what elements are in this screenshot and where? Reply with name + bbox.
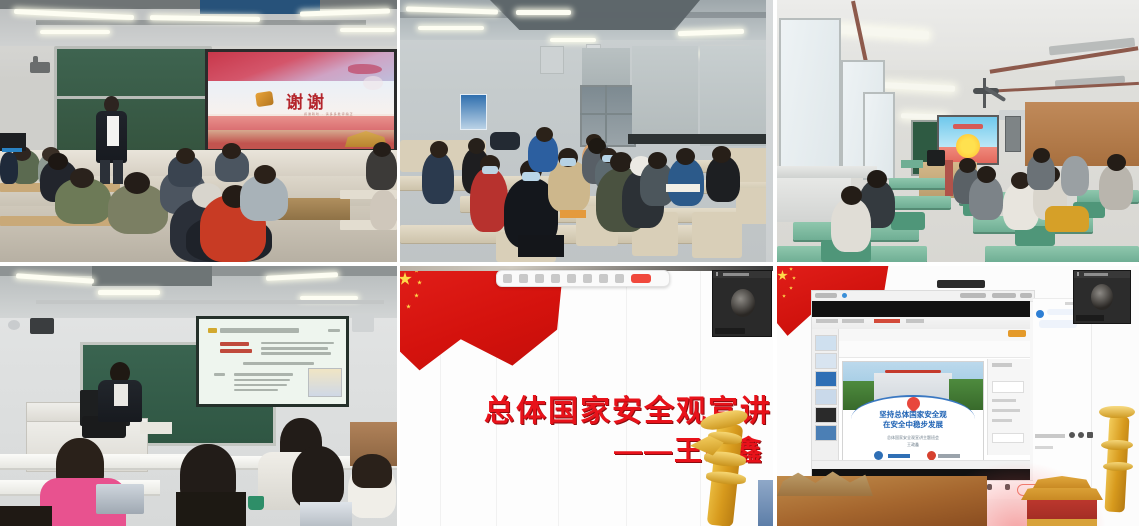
settings-icon[interactable] xyxy=(599,274,608,283)
avatar xyxy=(731,289,755,317)
camera-icon[interactable] xyxy=(519,274,528,283)
participant-video-window[interactable] xyxy=(712,270,772,337)
share-icon[interactable] xyxy=(535,274,544,283)
green-desk-classroom-photo xyxy=(777,0,1139,262)
screenshot-icon[interactable] xyxy=(1087,432,1093,438)
collage-photo-top-right xyxy=(777,0,1139,262)
collage-photo-top-left: 谢谢 感谢聆听 · 请多多批评指正 xyxy=(0,0,397,262)
masked-students-classroom-photo xyxy=(400,0,773,262)
photo-collage: 谢谢 感谢聆听 · 请多多批评指正 xyxy=(0,0,1139,526)
projection-screen: 谢谢 感谢聆听 · 请多多批评指正 xyxy=(205,49,397,152)
participant-name-badge xyxy=(715,328,745,334)
meeting-status-tooltip xyxy=(937,280,985,288)
projection-screen xyxy=(196,316,349,407)
record-icon[interactable] xyxy=(583,274,592,283)
slide-thank-you: 谢谢 感谢聆听 · 请多多批评指正 xyxy=(208,52,394,149)
slide-main-text: 谢谢 xyxy=(286,88,328,113)
chat-icon[interactable] xyxy=(567,274,576,283)
collage-photo-top-middle xyxy=(400,0,773,262)
collage-photo-bottom-left xyxy=(0,266,397,526)
ppt-slide: 坚持总体国家安全观 在安全中稳步发展 总体国家安全观宣讲主题班会 王政鑫 xyxy=(842,361,984,467)
meeting-toolbar[interactable] xyxy=(496,270,670,287)
attachment-icon[interactable] xyxy=(1078,432,1084,438)
format-pane[interactable] xyxy=(987,359,1030,455)
lecture-hall-photo: 谢谢 感谢聆听 · 请多多批评指正 xyxy=(0,0,397,262)
shared-title-slide: 总体国家安全观宣讲 ——王政鑫 xyxy=(400,266,773,526)
end-share-button[interactable] xyxy=(631,274,651,283)
collage-photo-bottom-middle: 总体国家安全观宣讲 ——王政鑫 xyxy=(400,266,773,526)
mic-icon[interactable] xyxy=(503,274,512,283)
ppt-subtitle: 总体国家安全观宣讲主题班会 xyxy=(843,435,983,441)
avatar xyxy=(1091,284,1113,310)
ppt-presenter: 王政鑫 xyxy=(843,442,983,448)
meeting-ppt-share-photo: 坚持总体国家安全观 在安全中稳步发展 总体国家安全观宣讲主题班会 王政鑫 xyxy=(777,266,1139,526)
laptop xyxy=(96,484,144,514)
collage-photo-bottom-right: 坚持总体国家安全观 在安全中稳步发展 总体国家安全观宣讲主题班会 王政鑫 xyxy=(777,266,1139,526)
yellow-backpack xyxy=(1045,206,1089,232)
members-icon[interactable] xyxy=(551,274,560,283)
participant-video-window[interactable] xyxy=(1073,270,1131,324)
computer-room-lecture-photo xyxy=(0,266,397,526)
wall-poster xyxy=(460,94,487,130)
meeting-window[interactable]: 坚持总体国家安全观 在安全中稳步发展 总体国家安全观宣讲主题班会 王政鑫 xyxy=(811,290,1035,488)
ppt-title-line1: 坚持总体国家安全观 xyxy=(843,409,983,420)
participant-name-badge xyxy=(1076,315,1104,321)
more-icon[interactable] xyxy=(615,274,624,283)
slide-sub-text: 感谢聆听 · 请多多批评指正 xyxy=(304,112,354,116)
sunrise-graphic xyxy=(956,134,980,158)
powerpoint-app[interactable]: 坚持总体国家安全观 在安全中稳步发展 总体国家安全观宣讲主题班会 王政鑫 xyxy=(812,317,1030,469)
ppt-title-line2: 在安全中稳步发展 xyxy=(843,419,983,430)
emoji-icon[interactable] xyxy=(1069,432,1075,438)
slide-thumbnail-pane[interactable] xyxy=(812,329,839,461)
